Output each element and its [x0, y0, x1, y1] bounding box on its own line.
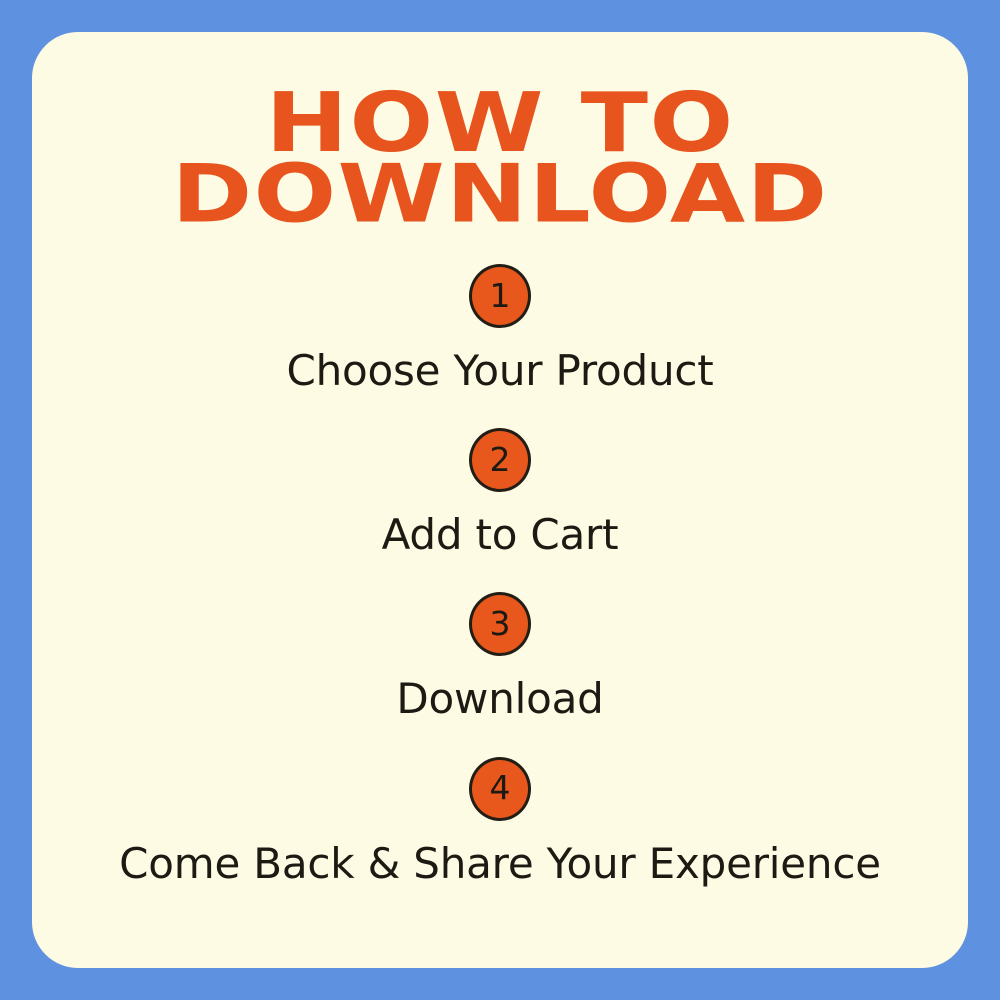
step-label-2: Add to Cart — [32, 512, 968, 558]
page-title: HOW TO DOWNLOAD — [32, 90, 968, 228]
step-number-badge-3: 3 — [469, 592, 531, 656]
title-line-download: DOWNLOAD — [32, 159, 968, 230]
steps-list: 1 Choose Your Product 2 Add to Cart 3 Do… — [32, 264, 968, 887]
step-label-1: Choose Your Product — [32, 348, 968, 394]
list-item: 2 Add to Cart — [32, 428, 968, 558]
list-item: 1 Choose Your Product — [32, 264, 968, 394]
poster-frame: HOW TO DOWNLOAD 1 Choose Your Product 2 … — [0, 0, 1000, 1000]
list-item: 4 Come Back & Share Your Experience — [32, 757, 968, 887]
step-label-4: Come Back & Share Your Experience — [32, 841, 968, 887]
step-number-badge-2: 2 — [469, 428, 531, 492]
step-number-badge-4: 4 — [469, 757, 531, 821]
poster-card: HOW TO DOWNLOAD 1 Choose Your Product 2 … — [32, 32, 968, 968]
step-label-3: Download — [32, 676, 968, 722]
list-item: 3 Download — [32, 592, 968, 722]
step-number-badge-1: 1 — [469, 264, 531, 328]
